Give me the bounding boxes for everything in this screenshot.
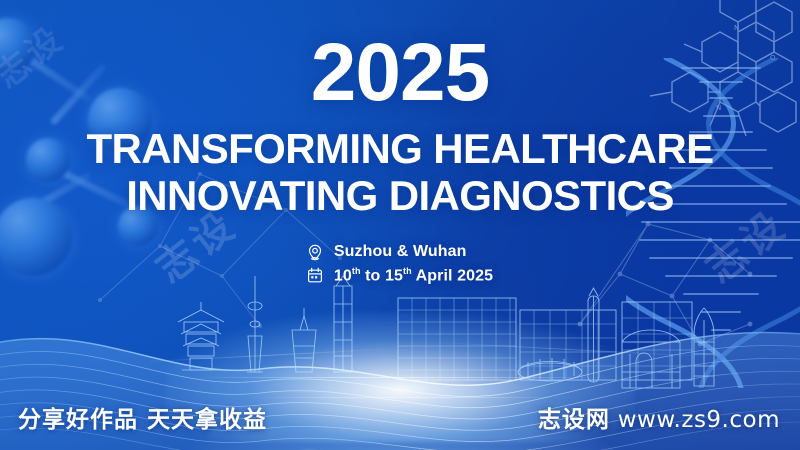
location-pin-icon (307, 244, 323, 261)
watermark-site-url: www.zs9.com (618, 407, 780, 433)
date-month-year: April 2025 (412, 268, 493, 285)
date-sup-start: th (352, 266, 361, 276)
page-title-year: 2025 (311, 34, 489, 113)
headline: TRANSFORMING HEALTHCARE INNOVATING DIAGN… (86, 127, 713, 218)
detail-row-date: 10th to 15th April 2025 (307, 266, 493, 285)
event-details: Suzhou & Wuhan 10th to 15th April 2025 (307, 243, 493, 285)
location-text: Suzhou & Wuhan (334, 243, 467, 261)
detail-row-location: Suzhou & Wuhan (307, 243, 493, 261)
poster-content: 2025 TRANSFORMING HEALTHCARE INNOVATING … (0, 0, 800, 450)
date-text: 10th to 15th April 2025 (334, 266, 493, 285)
watermark-bottom-right: 志设网 www.zs9.com (538, 400, 780, 434)
date-day-start: 10 (334, 268, 352, 285)
watermark-site-name: 志设网 (538, 407, 610, 433)
headline-line-2: INNOVATING DIAGNOSTICS (86, 174, 713, 217)
date-connector: to 15 (361, 268, 403, 285)
watermark-bottom-left: 分享好作品 天天拿收益 (18, 400, 267, 434)
headline-line-1: TRANSFORMING HEALTHCARE (86, 127, 713, 170)
calendar-icon (307, 267, 323, 284)
event-poster: N O N (0, 0, 800, 450)
date-sup-end: th (403, 266, 412, 276)
